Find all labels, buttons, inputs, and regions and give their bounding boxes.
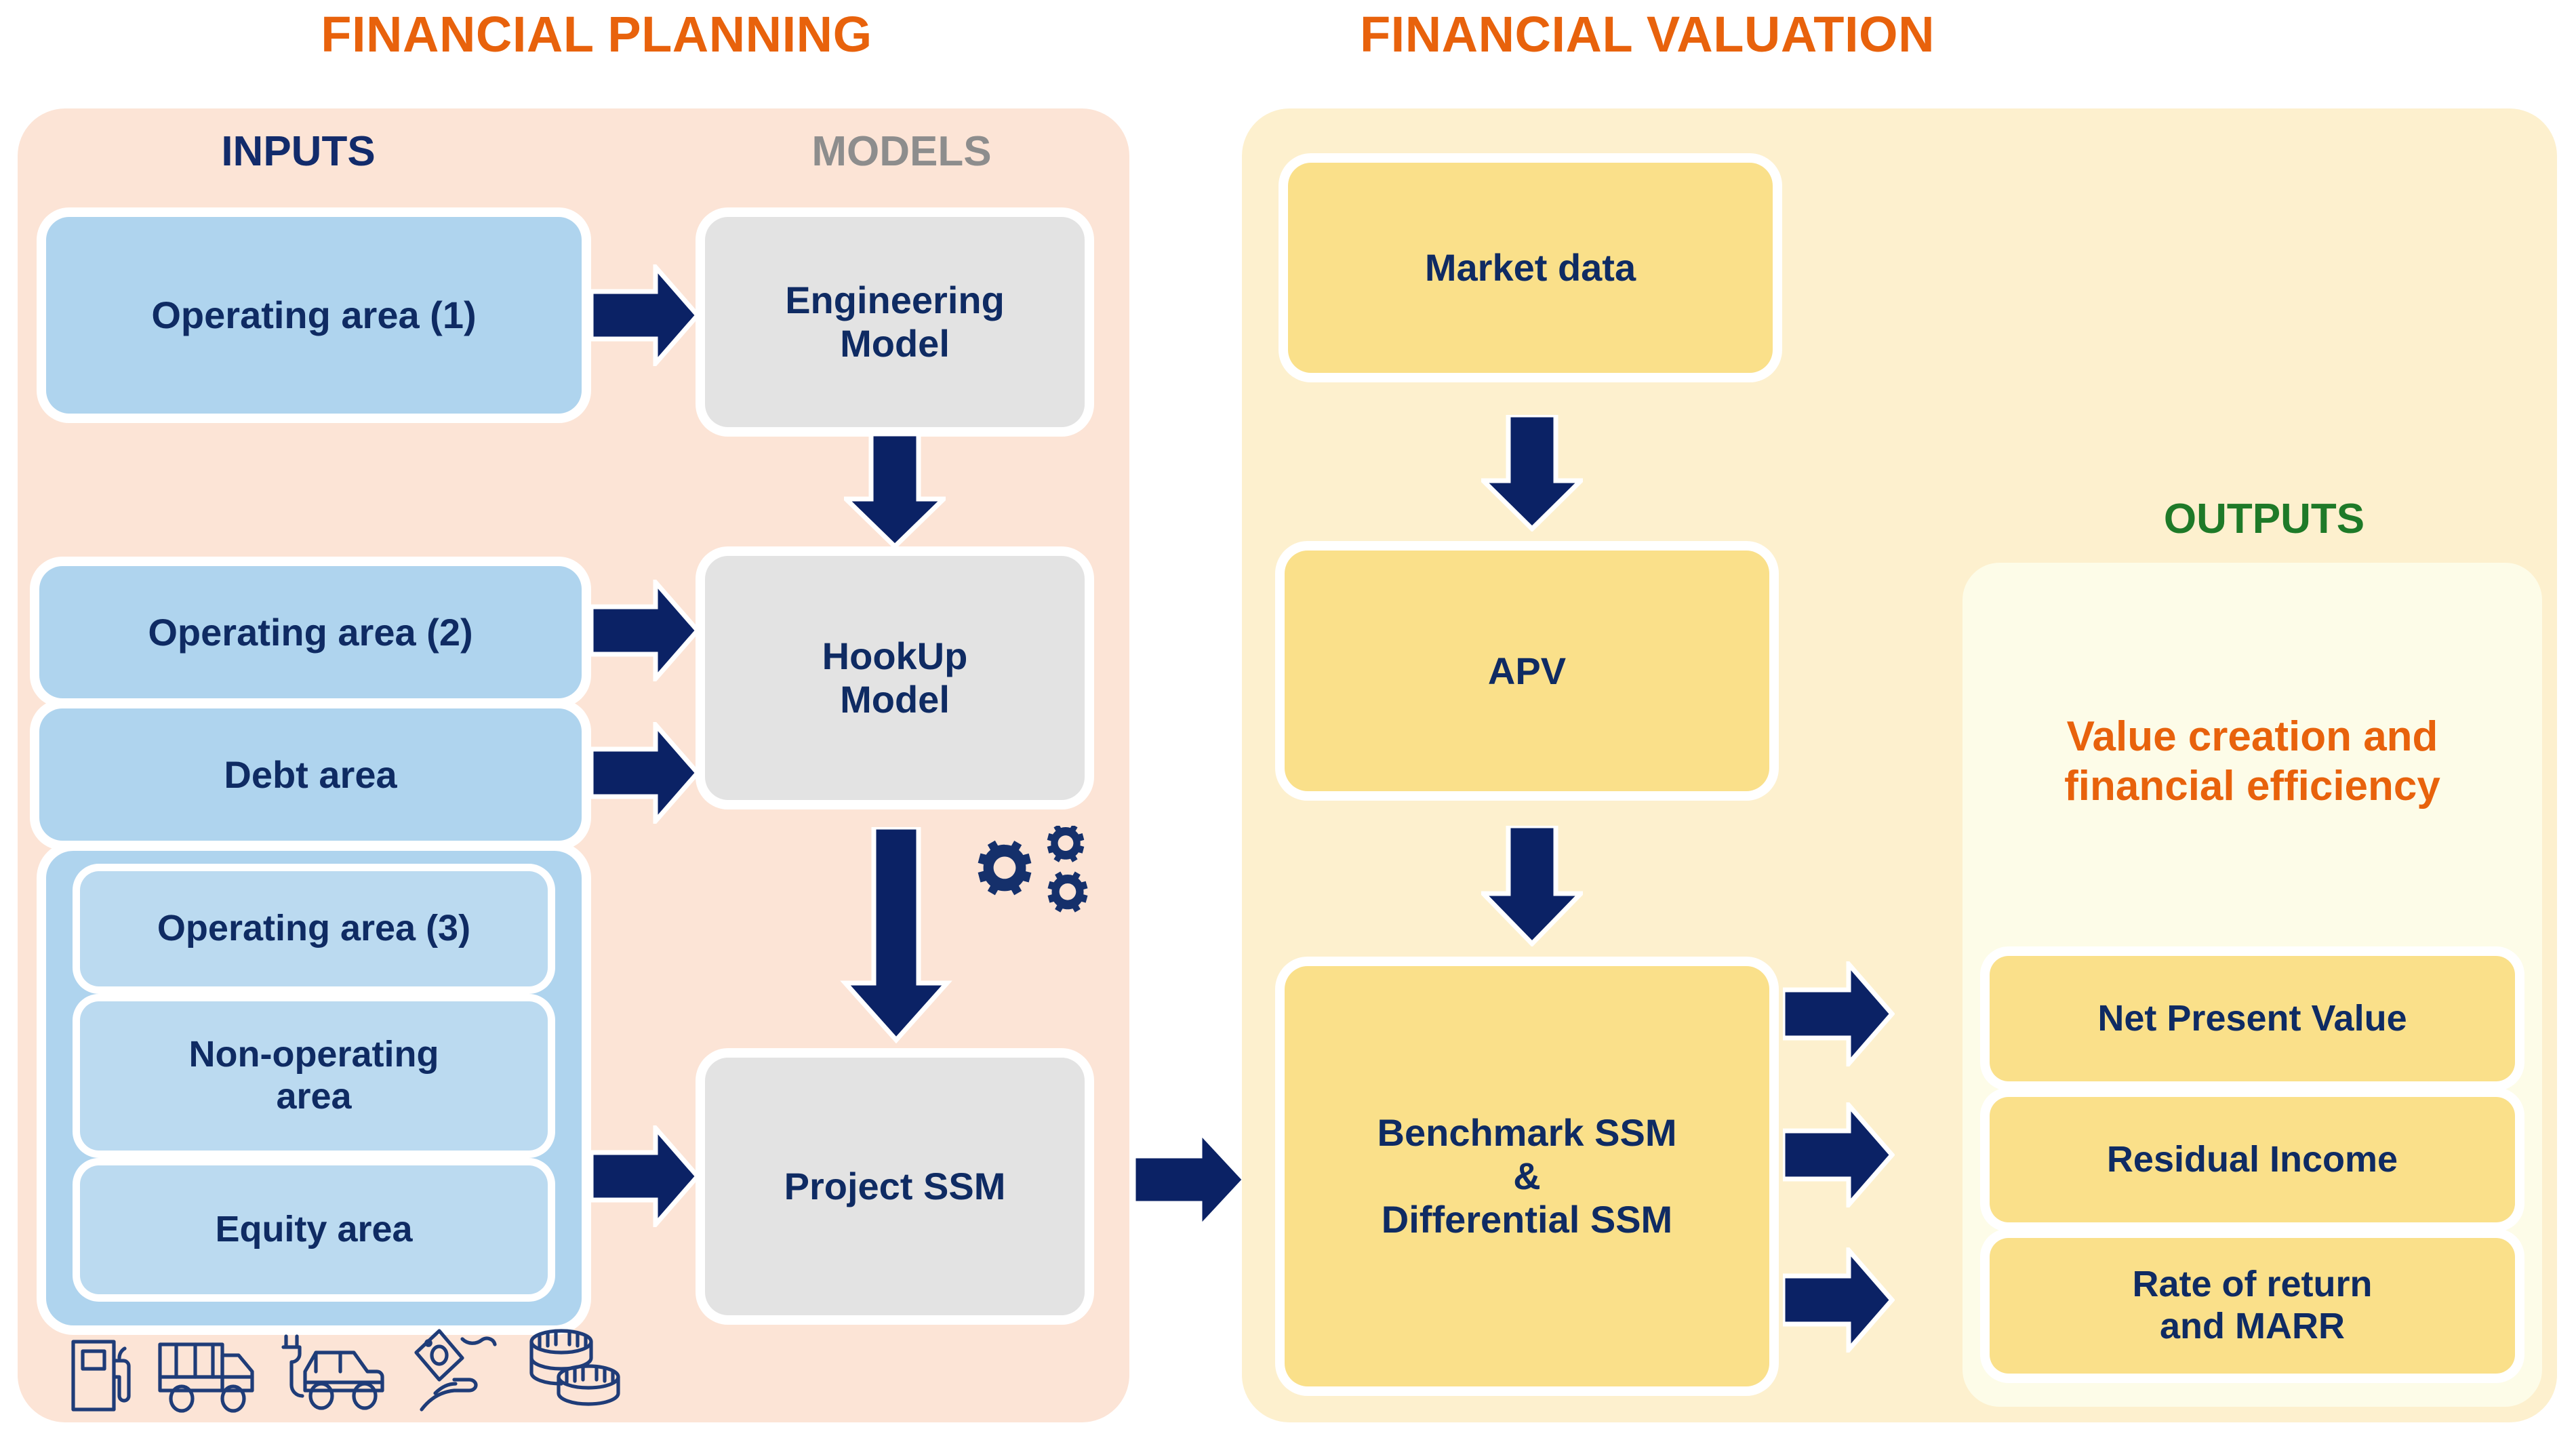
input-equity-area[interactable]: Equity area bbox=[80, 1165, 548, 1294]
bus-icon bbox=[155, 1328, 263, 1415]
output-net-present-value[interactable]: Net Present Value bbox=[1990, 956, 2515, 1081]
arrow-hookup-to-project-ssm bbox=[839, 827, 954, 1044]
arrow-engineering-to-hookup bbox=[844, 434, 946, 549]
outputs-column-label: OUTPUTS bbox=[1993, 495, 2535, 543]
node-benchmark-differential-ssm[interactable]: Benchmark SSM & Differential SSM bbox=[1285, 966, 1769, 1386]
diagram-canvas: FINANCIAL PLANNING INPUTS MODELS Operati… bbox=[0, 0, 2576, 1440]
arrow-operating1-to-engineering bbox=[591, 264, 700, 366]
arrow-operating2-to-hookup bbox=[591, 580, 700, 681]
input-debt-area[interactable]: Debt area bbox=[39, 708, 582, 841]
arrow-market-data-to-apv bbox=[1481, 415, 1583, 532]
arrow-benchmark-to-npv bbox=[1783, 961, 1895, 1066]
model-project-ssm[interactable]: Project SSM bbox=[705, 1058, 1085, 1315]
model-engineering[interactable]: Engineering Model bbox=[705, 217, 1085, 427]
models-column-label: MODELS bbox=[698, 127, 1105, 176]
input-operating-area-3[interactable]: Operating area (3) bbox=[80, 871, 548, 986]
arrow-benchmark-to-rate-of-return bbox=[1783, 1247, 1895, 1353]
model-hookup[interactable]: HookUp Model bbox=[705, 556, 1085, 800]
node-apv[interactable]: APV bbox=[1285, 551, 1769, 791]
financial-planning-title: FINANCIAL PLANNING bbox=[291, 5, 902, 63]
arrow-debt-to-hookup bbox=[591, 722, 700, 824]
financial-valuation-title: FINANCIAL VALUATION bbox=[1274, 5, 2020, 63]
arrow-apv-to-benchmark bbox=[1481, 826, 1583, 946]
outputs-headline: Value creation and financial efficiency bbox=[1979, 712, 2525, 811]
electric-car-icon bbox=[275, 1328, 390, 1415]
input-operating-area-1[interactable]: Operating area (1) bbox=[46, 217, 582, 414]
output-rate-of-return-marr[interactable]: Rate of return and MARR bbox=[1990, 1238, 2515, 1374]
input-non-operating-area[interactable]: Non-operating area bbox=[80, 1001, 548, 1151]
planning-icon-strip bbox=[68, 1325, 625, 1415]
arrow-benchmark-to-residual-income bbox=[1783, 1102, 1895, 1207]
node-market-data[interactable]: Market data bbox=[1288, 163, 1773, 373]
inputs-column-label: INPUTS bbox=[54, 127, 542, 176]
gears-icon bbox=[963, 826, 1108, 934]
arrow-group-to-project-ssm bbox=[591, 1125, 700, 1227]
coins-icon bbox=[523, 1325, 625, 1415]
fuel-pump-icon bbox=[68, 1328, 142, 1415]
input-operating-area-2[interactable]: Operating area (2) bbox=[39, 566, 582, 698]
input-group-container: Operating area (3) Non-operating area Eq… bbox=[46, 851, 582, 1325]
hand-money-icon bbox=[403, 1325, 511, 1415]
output-residual-income[interactable]: Residual Income bbox=[1990, 1097, 2515, 1222]
arrow-planning-to-valuation bbox=[1133, 1129, 1247, 1231]
